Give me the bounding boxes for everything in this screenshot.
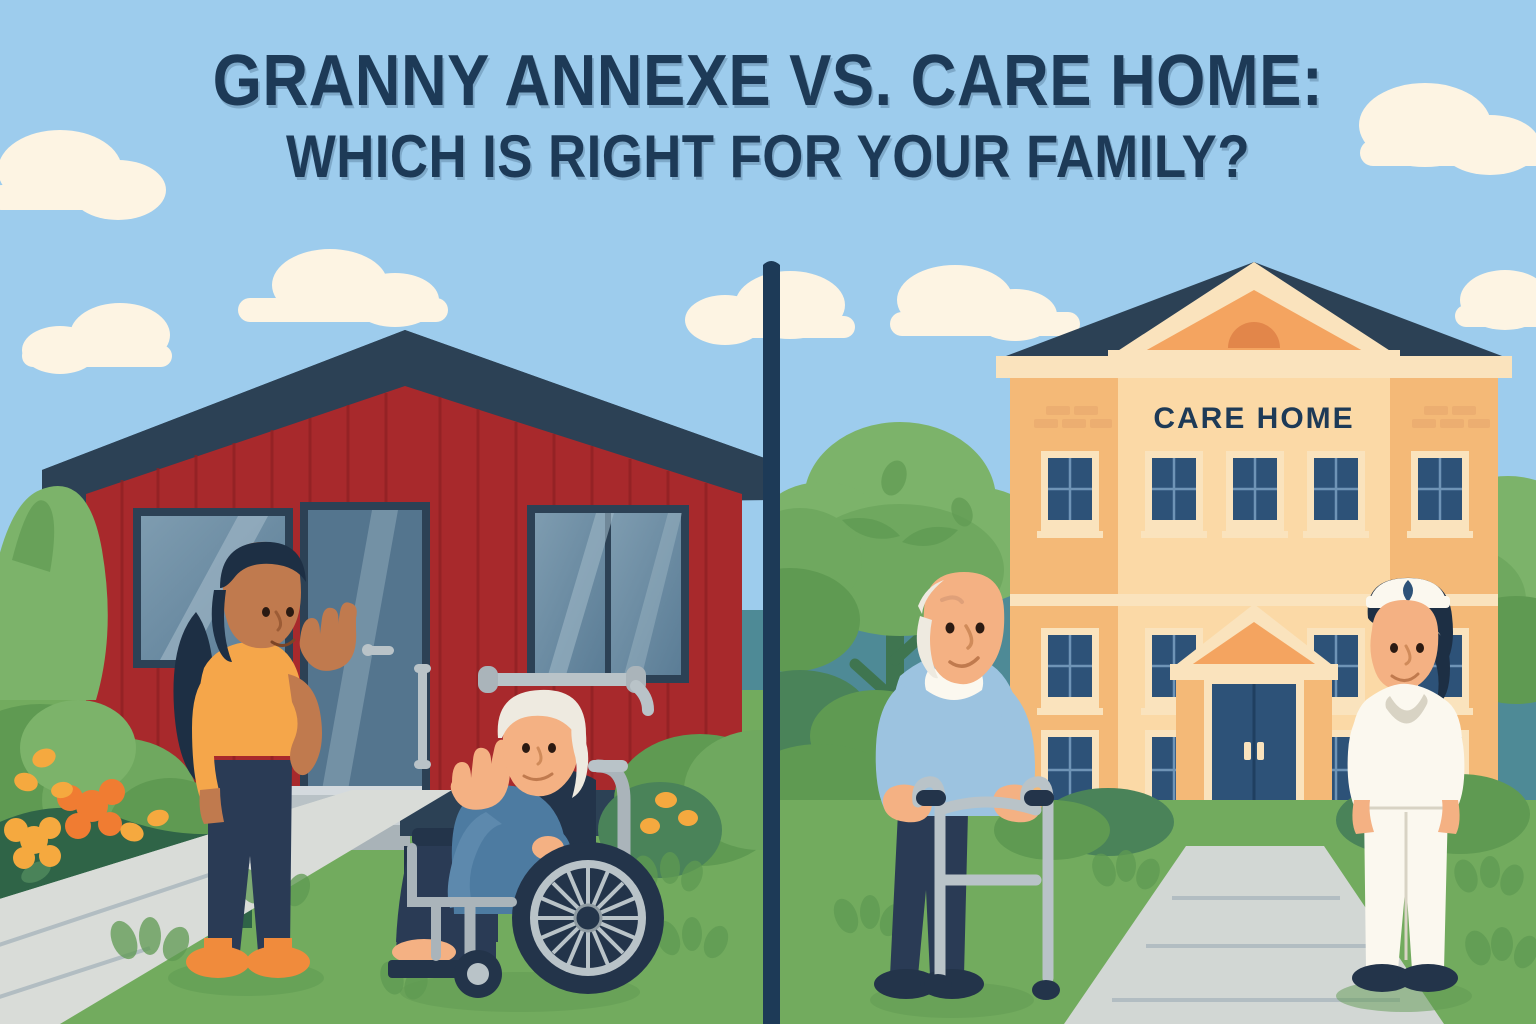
window xyxy=(1303,451,1369,538)
portico-column-left xyxy=(1176,680,1204,810)
window xyxy=(1222,451,1288,538)
annexe-window-right xyxy=(527,505,689,683)
wheelchair-big-wheel xyxy=(512,842,664,994)
door-handle-right xyxy=(1257,742,1264,760)
bush-tall-back xyxy=(0,486,108,700)
window xyxy=(1141,451,1207,538)
door-handle-left xyxy=(1244,742,1251,760)
care-home-sign-text: CARE HOME xyxy=(1153,402,1354,435)
illustration-canvas: CARE HOME xyxy=(0,0,1536,1024)
nurse-shoe-right xyxy=(1398,964,1458,992)
scene-divider xyxy=(763,265,780,1024)
man-trousers xyxy=(890,812,968,976)
window xyxy=(1037,451,1103,538)
portico-column-right xyxy=(1304,680,1332,810)
scene-artwork: CARE HOME xyxy=(0,0,1536,1024)
window xyxy=(1407,451,1473,538)
window xyxy=(1037,628,1103,715)
